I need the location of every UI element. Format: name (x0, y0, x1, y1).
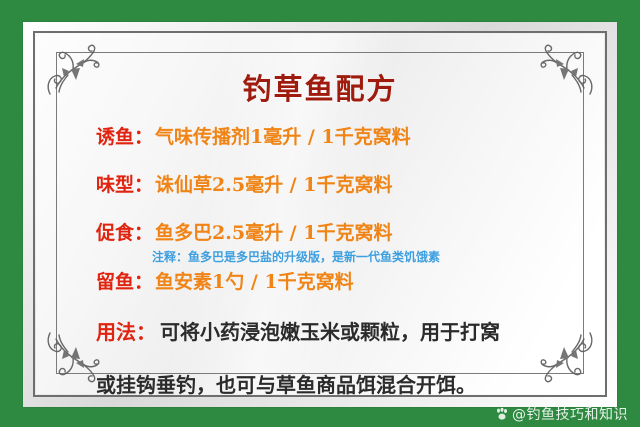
page-title: 钓草鱼配方 (60, 66, 580, 108)
recipe-row-flavor: 味型： 诛仙草2.5毫升 / 1千克窝料 (60, 170, 580, 197)
recipe-label: 促食： (96, 218, 153, 245)
watermark-text: @钓鱼技巧和知识 (512, 404, 628, 424)
usage-line-1: 可将小药浸泡嫩玉米或颗粒，用于打窝 (160, 316, 500, 345)
recipe-value: 诛仙草2.5毫升 / 1千克窝料 (155, 170, 392, 197)
recipe-row-retain: 留鱼： 鱼安素1勺 / 1千克窝料 (60, 267, 580, 294)
poster-content: 钓草鱼配方 诱鱼： 气味传播剂1毫升 / 1千克窝料 味型： 诛仙草2.5毫升 … (60, 52, 580, 374)
recipe-value: 鱼安素1勺 / 1千克窝料 (155, 267, 354, 294)
watermark: @钓鱼技巧和知识 (495, 404, 628, 424)
recipe-row-appetite: 促食： 鱼多巴2.5毫升 / 1千克窝料 (60, 218, 580, 245)
usage-line-2: 或挂钩垂钓，也可与草鱼商品饵混合开饵。 (60, 369, 580, 398)
recipe-row-lure: 诱鱼： 气味传播剂1毫升 / 1千克窝料 (60, 122, 580, 149)
recipe-note: 注释：鱼多巴是多巴盐的升级版，是新一代鱼类饥饿素 (60, 248, 580, 265)
paw-icon (495, 407, 509, 421)
recipe-label: 诱鱼： (96, 122, 153, 149)
recipe-label: 味型： (96, 170, 153, 197)
recipe-value: 鱼多巴2.5毫升 / 1千克窝料 (155, 218, 392, 245)
usage-section: 用法： 可将小药浸泡嫩玉米或颗粒，用于打窝 (60, 316, 580, 345)
recipe-label: 留鱼： (96, 267, 153, 294)
poster-card: 钓草鱼配方 诱鱼： 气味传播剂1毫升 / 1千克窝料 味型： 诛仙草2.5毫升 … (0, 0, 640, 427)
usage-label: 用法： (96, 316, 156, 345)
recipe-value: 气味传播剂1毫升 / 1千克窝料 (155, 122, 411, 149)
